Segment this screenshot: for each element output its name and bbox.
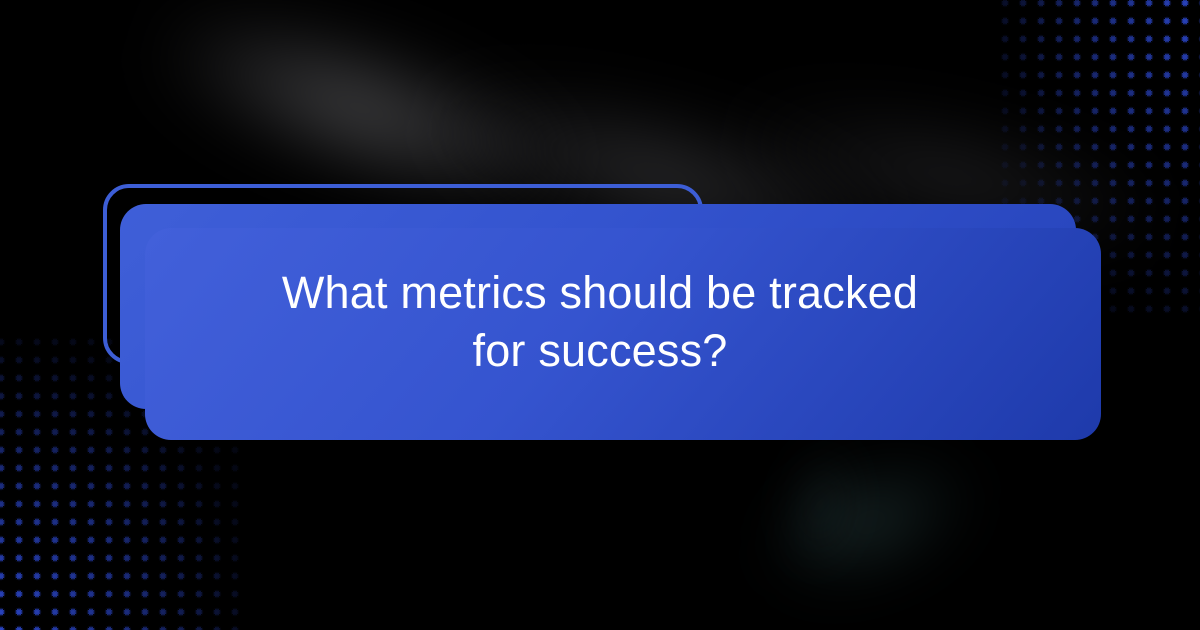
promo-card-canvas: What metrics should be tracked for succe… <box>0 0 1200 630</box>
question-text: What metrics should be tracked for succe… <box>250 264 950 380</box>
question-container: What metrics should be tracked for succe… <box>150 204 1050 440</box>
teal-glow-secondary <box>781 436 859 573</box>
teal-glow <box>746 425 995 619</box>
